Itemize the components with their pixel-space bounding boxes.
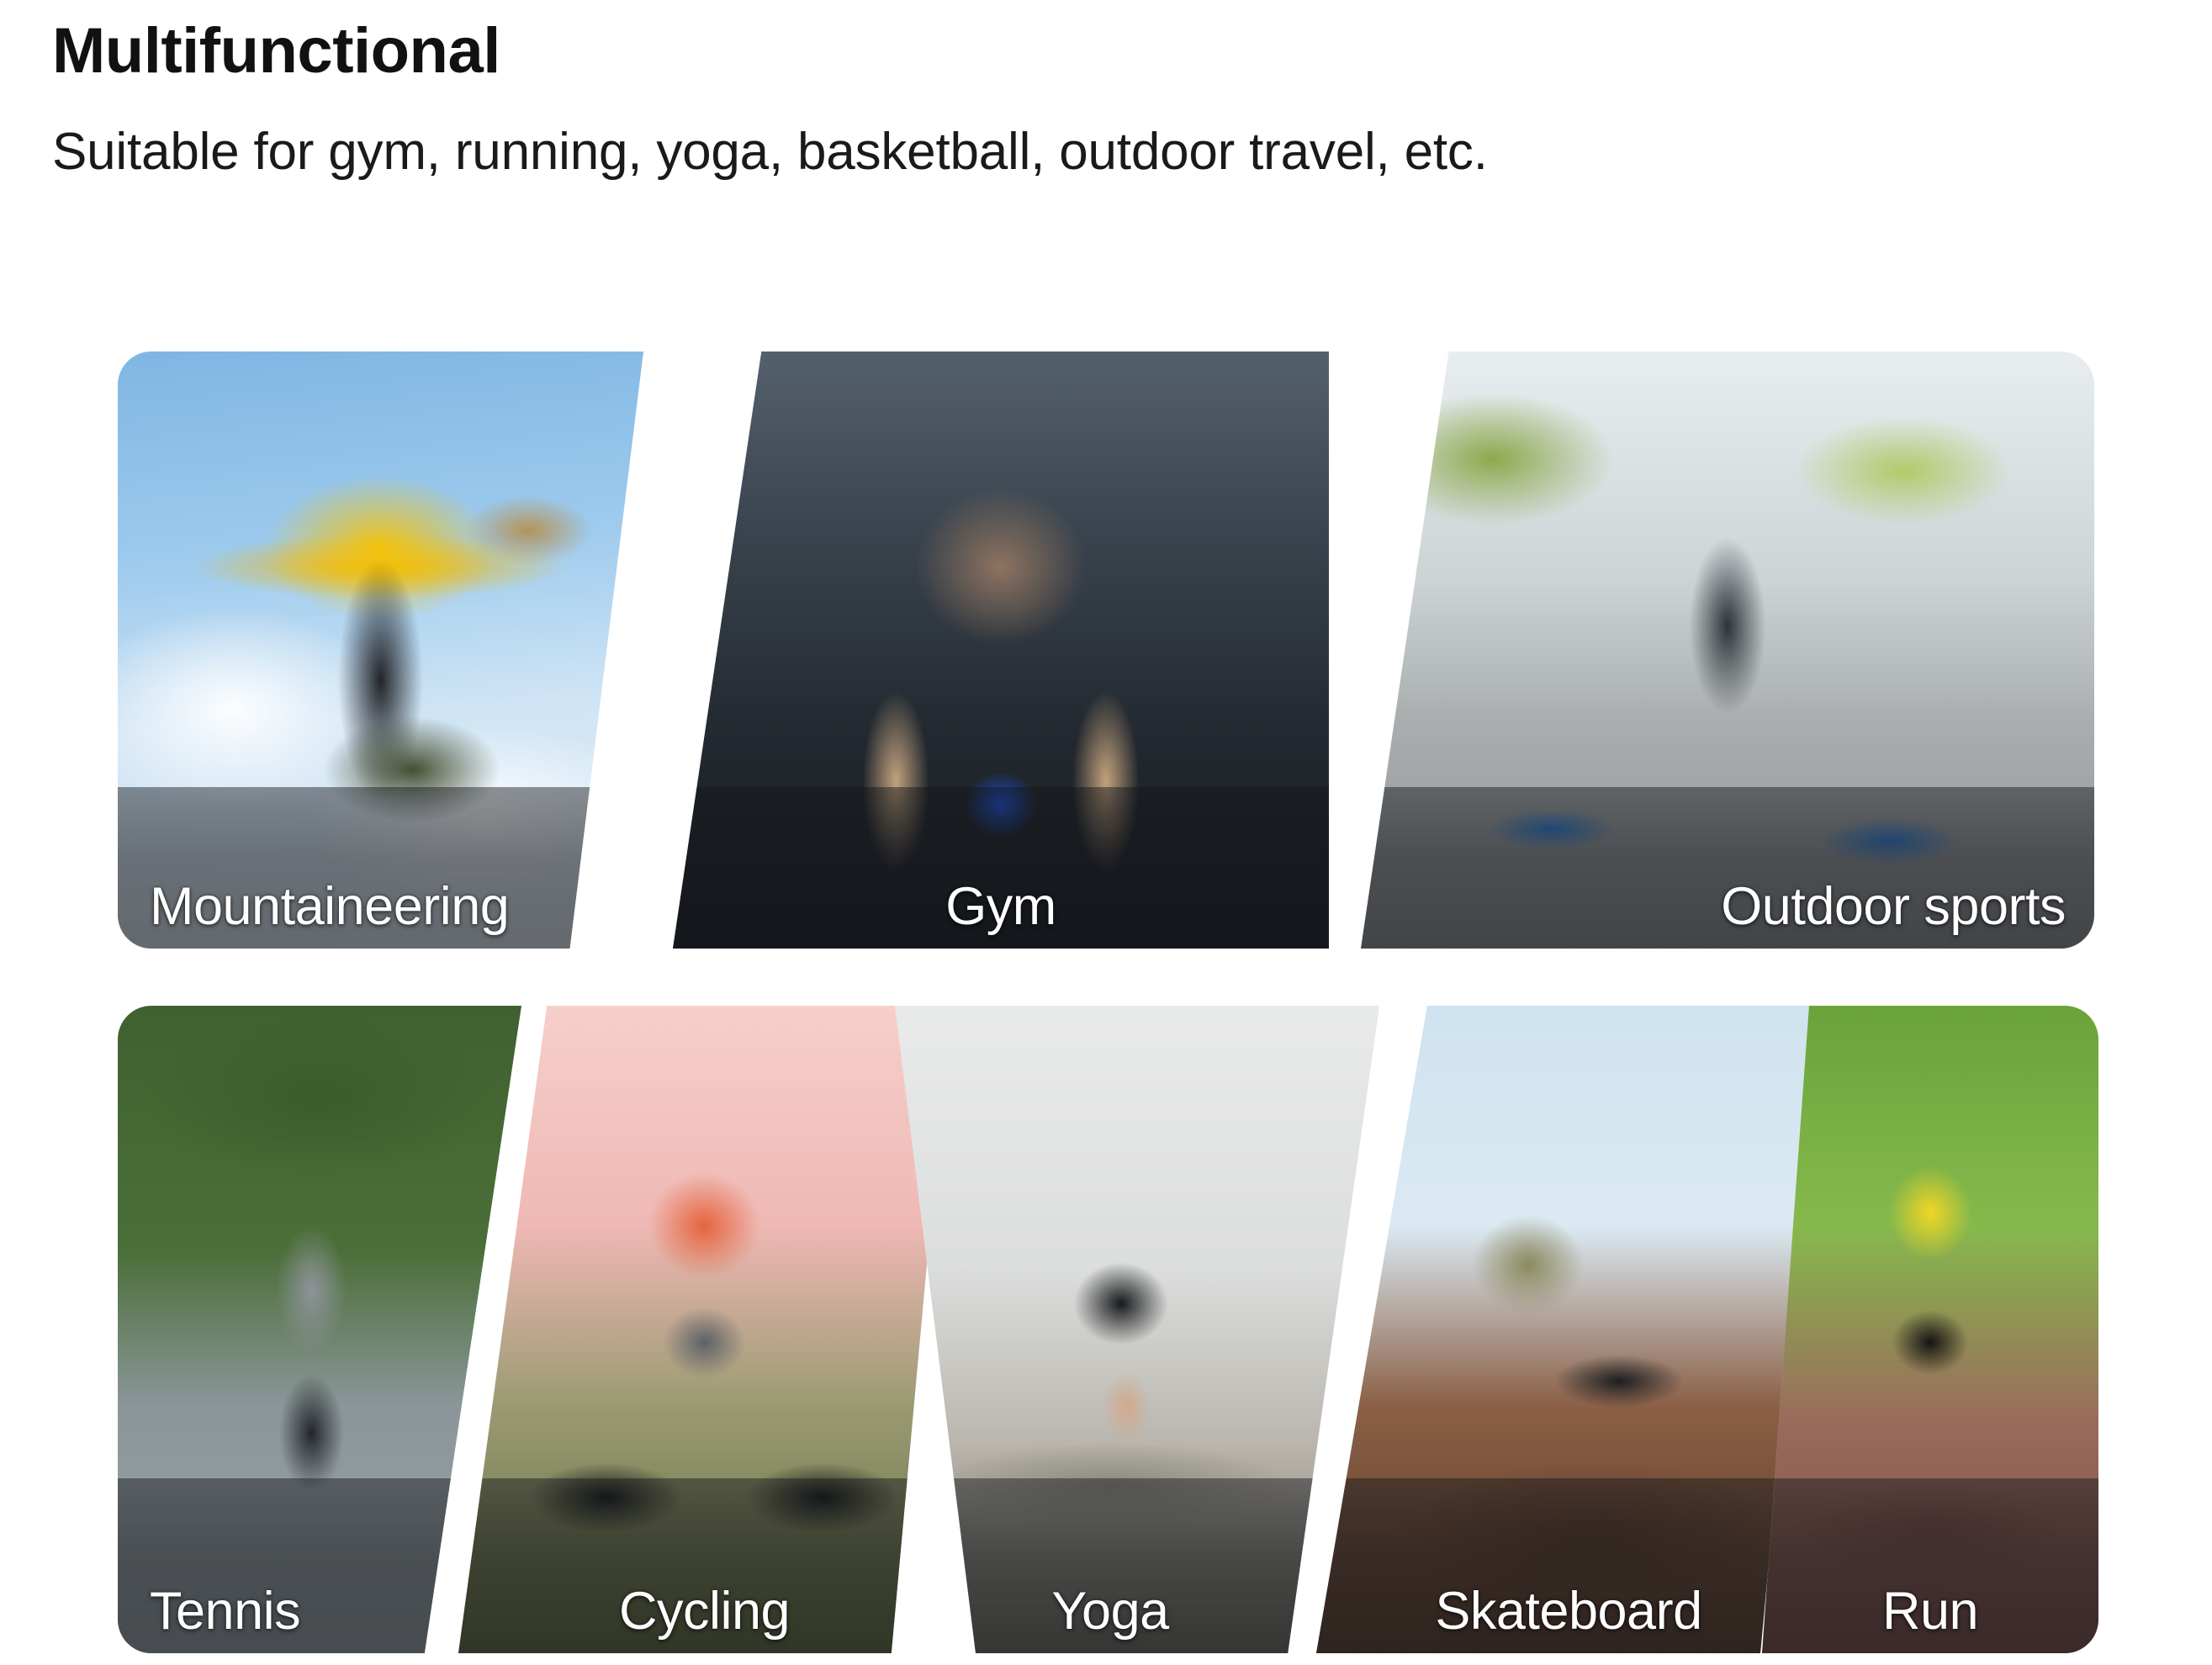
tile-label: Tennis xyxy=(118,1581,521,1641)
tile-mountaineering[interactable]: Mountaineering xyxy=(118,351,643,949)
tile-skateboard[interactable]: Skateboard xyxy=(1316,1006,1821,1653)
tile-tennis[interactable]: Tennis xyxy=(118,1006,521,1653)
tile-label: Gym xyxy=(673,876,1329,937)
header-block: Multifunctional Suitable for gym, runnin… xyxy=(52,15,2155,182)
tile-label: Run xyxy=(1762,1581,2098,1641)
tile-cycling[interactable]: Cycling xyxy=(458,1006,950,1653)
tile-yoga[interactable]: Yoga xyxy=(841,1006,1379,1653)
gallery-row-2: Tennis Cycling Yoga Skateboard Run xyxy=(0,1006,2212,1653)
tile-label: Skateboard xyxy=(1316,1581,1821,1641)
tile-label: Cycling xyxy=(458,1581,950,1641)
gallery-row-1: Mountaineering Gym Outdoor sports xyxy=(0,351,2212,949)
page-title: Multifunctional xyxy=(52,15,2155,87)
tile-run[interactable]: Run xyxy=(1762,1006,2098,1653)
tile-gym[interactable]: Gym xyxy=(673,351,1329,949)
tile-label: Outdoor sports xyxy=(1361,876,2094,937)
tile-label: Yoga xyxy=(841,1581,1379,1641)
tile-outdoor-sports[interactable]: Outdoor sports xyxy=(1361,351,2094,949)
tile-label: Mountaineering xyxy=(118,876,643,937)
page-subtitle: Suitable for gym, running, yoga, basketb… xyxy=(52,122,2155,182)
